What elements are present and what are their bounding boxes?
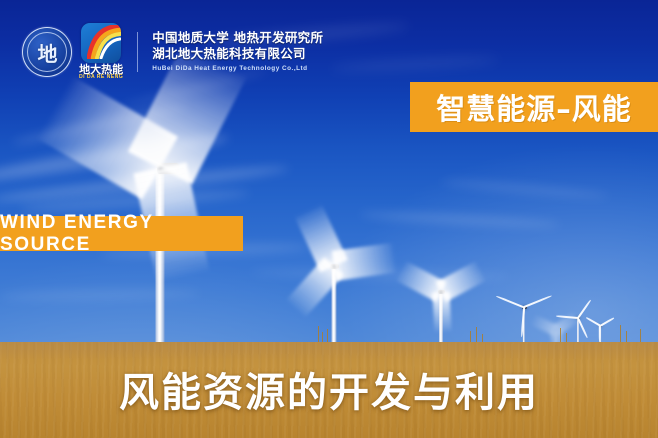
rainbow-swoosh-icon (87, 25, 121, 59)
topic-badge-cn: 智慧能源–风能 (410, 82, 658, 132)
org-line-2: 湖北地大热能科技有限公司 (152, 47, 323, 62)
topic-badge-en-label: WIND ENERGY SOURCE (0, 212, 243, 256)
org-line-3-english: HuBei DiDa Heat Energy Technology Co.,Lt… (152, 65, 323, 73)
topic-badge-en: WIND ENERGY SOURCE (0, 216, 243, 251)
header-divider (137, 32, 138, 72)
university-seal-icon: 地 (22, 27, 72, 77)
organization-text: 中国地质大学 地热开发研究所 湖北地大热能科技有限公司 HuBei DiDa H… (152, 31, 323, 72)
topic-badge-cn-label: 智慧能源–风能 (436, 86, 632, 128)
poster-title: 风能资源的开发与利用 (0, 352, 658, 426)
dida-logo: 地大热能 DI DA RE NENG (79, 23, 123, 81)
seal-glyph: 地 (23, 28, 71, 76)
dida-mark-icon (81, 23, 121, 63)
dida-brand-en: DI DA RE NENG (79, 75, 123, 81)
brand-header: 地 地大热能 DI DA RE NENG 中国地质大学 地热开发研究所 湖北地大… (0, 22, 352, 82)
poster-title-label: 风能资源的开发与利用 (119, 360, 539, 418)
wind-energy-poster: 地 地大热能 DI DA RE NENG 中国地质大学 地热开发研究所 湖北地大… (0, 0, 658, 438)
org-line-1: 中国地质大学 地热开发研究所 (152, 31, 323, 46)
